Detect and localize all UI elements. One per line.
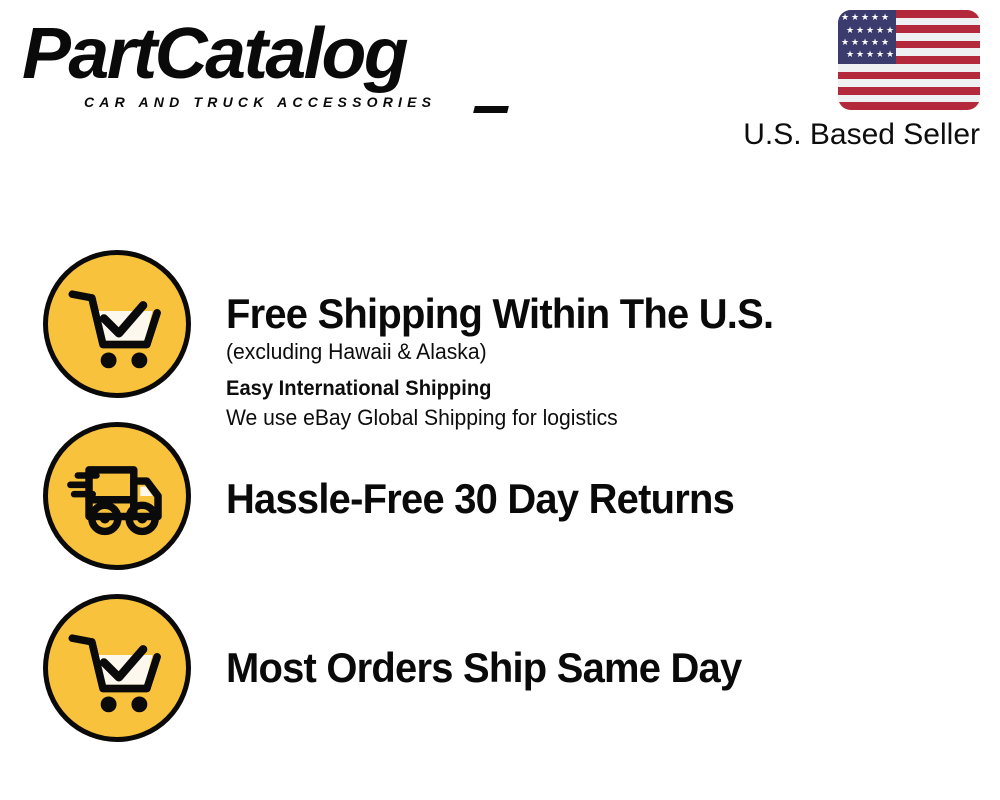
flag-stripe	[838, 87, 980, 95]
shopping-cart-check-icon	[43, 250, 191, 398]
feature-row: Most Orders Ship Same Day	[0, 581, 1000, 753]
flag-stripe	[838, 79, 980, 87]
flag-star: ★	[841, 38, 849, 47]
flag-star: ★	[871, 38, 879, 47]
flag-star: ★	[856, 26, 864, 35]
flag-stripe	[838, 64, 980, 72]
feature-row: Free Shipping Within The U.S. (excluding…	[0, 235, 1000, 410]
shopping-cart-check-icon	[43, 594, 191, 742]
flag-star: ★	[856, 50, 864, 59]
brand-wordmark: PartCatalog	[22, 18, 406, 90]
feature-headline: Most Orders Ship Same Day	[226, 644, 961, 692]
flag-stripe	[838, 72, 980, 80]
us-based-seller-badge: ★ ★ ★ ★ ★ ★ ★ ★ ★ ★ ★ ★ ★ ★ ★ ★ ★ ★ ★ ★	[714, 8, 984, 158]
flag-star: ★	[841, 13, 849, 22]
flag-star: ★	[851, 13, 859, 22]
brand-logo[interactable]: PartCatalog CAR AND TRUCK ACCESSORIES	[22, 18, 492, 118]
flag-star: ★	[881, 38, 889, 47]
flag-stripe	[838, 102, 980, 110]
flag-star: ★	[861, 13, 869, 22]
flag-star: ★	[876, 26, 884, 35]
flag-star: ★	[846, 50, 854, 59]
flag-canton: ★ ★ ★ ★ ★ ★ ★ ★ ★ ★ ★ ★ ★ ★ ★ ★ ★ ★ ★ ★	[838, 10, 896, 64]
flag-star: ★	[846, 26, 854, 35]
brand-tagline: CAR AND TRUCK ACCESSORIES	[84, 94, 436, 110]
feature-sub-bold: Easy International Shipping	[226, 374, 969, 404]
us-flag-icon: ★ ★ ★ ★ ★ ★ ★ ★ ★ ★ ★ ★ ★ ★ ★ ★ ★ ★ ★ ★	[838, 10, 980, 110]
banner-header: PartCatalog CAR AND TRUCK ACCESSORIES ★ …	[0, 0, 1000, 175]
feature-subnote: (excluding Hawaii & Alaska)	[226, 338, 969, 366]
feature-text: Hassle-Free 30 Day Returns	[191, 409, 1000, 523]
feature-headline: Hassle-Free 30 Day Returns	[226, 475, 961, 523]
flag-star: ★	[886, 26, 894, 35]
brand-underline-accent	[473, 106, 509, 113]
flag-star: ★	[881, 13, 889, 22]
us-based-seller-label: U.S. Based Seller	[743, 118, 980, 152]
feature-text: Free Shipping Within The U.S. (excluding…	[191, 235, 1000, 432]
feature-text: Most Orders Ship Same Day	[191, 581, 1000, 692]
feature-row: Hassle-Free 30 Day Returns	[0, 409, 1000, 581]
flag-star: ★	[861, 38, 869, 47]
feature-headline: Free Shipping Within The U.S.	[226, 290, 961, 338]
flag-star: ★	[876, 50, 884, 59]
flag-stripe	[838, 95, 980, 103]
flag-star: ★	[866, 50, 874, 59]
flag-star: ★	[851, 38, 859, 47]
flag-star: ★	[871, 13, 879, 22]
flag-star: ★	[886, 50, 894, 59]
flag-star: ★	[866, 26, 874, 35]
delivery-truck-icon	[43, 422, 191, 570]
